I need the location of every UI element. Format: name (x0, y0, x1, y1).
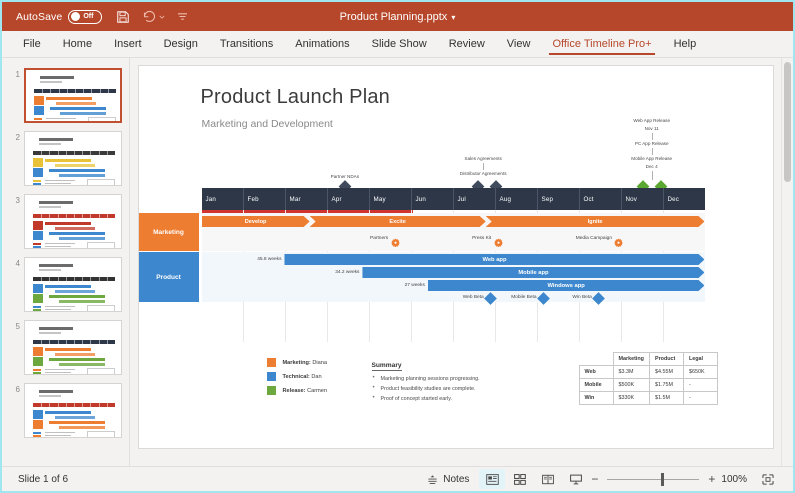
thumbnail-box[interactable]: ▬▬▬▬ (24, 68, 122, 123)
summary-block[interactable]: Summary Marketing planning sessions prog… (372, 354, 480, 406)
marketing-phase-ignite[interactable]: Ignite (486, 216, 705, 227)
task-bar-web-app[interactable]: Web app (284, 254, 704, 265)
autosave-toggle[interactable]: Off (68, 10, 102, 24)
thumbnail-item-1[interactable]: 1▬▬▬▬ (2, 64, 129, 127)
thumbnail-preview: ▬▬▬▬ (25, 195, 121, 248)
milestone-connector (483, 163, 484, 170)
powerpoint-window: AutoSave Off Product Planning.pptx▾ File… (0, 0, 795, 493)
ribbon-tab-review[interactable]: Review (438, 31, 496, 57)
slide-title[interactable]: Product Launch Plan (201, 86, 390, 109)
ribbon-tab-file[interactable]: File (12, 31, 52, 57)
table-cell: $500K (613, 379, 649, 392)
zoom-percent-label[interactable]: 100% (721, 474, 747, 485)
table-cell: $1.5M (649, 392, 683, 405)
thumbnail-box[interactable]: ▬▬▬▬ (24, 257, 122, 312)
legend-swatch (267, 386, 276, 395)
status-bar: Slide 1 of 6 Notes − + 100% (2, 466, 793, 491)
table-cell: $330K (613, 392, 649, 405)
toggle-knob (71, 12, 80, 21)
marketing-milestone-label-press-kit: Press Kit (472, 236, 491, 241)
zoom-out-button[interactable]: − (591, 472, 598, 486)
product-milestone-label-win-beta: Win Beta (572, 295, 591, 300)
slide-sorter-view-button[interactable] (507, 469, 533, 489)
thumbnail-preview: ▬▬▬▬ (25, 132, 121, 185)
ribbon-tab-office-timeline-pro[interactable]: Office Timeline Pro+ (541, 31, 662, 57)
marketing-milestone-marker-partners[interactable] (391, 234, 400, 243)
legend-text: Marketing: Diana (283, 360, 327, 366)
table-header-row: MarketingProductLegal (579, 353, 717, 366)
marketing-milestone-marker-press-kit[interactable] (494, 234, 503, 243)
normal-view-icon (486, 474, 499, 485)
title-bar: AutoSave Off Product Planning.pptx▾ (2, 2, 793, 31)
thumbnail-preview: ▬▬▬▬ (25, 258, 121, 311)
product-milestone-label-web-beta: Web Beta (463, 295, 484, 300)
ribbon-tab-transitions[interactable]: Transitions (209, 31, 284, 57)
marketing-milestone-marker-media-campaign[interactable] (614, 234, 623, 243)
thumbnail-item-6[interactable]: 6▬▬▬▬ (2, 379, 129, 442)
legend-row-technical: Technical: Dan (267, 372, 327, 381)
slide-canvas[interactable]: Product Launch Plan Marketing and Develo… (139, 66, 773, 448)
task-duration-windows-app: 27 weeks (405, 283, 425, 288)
save-icon[interactable] (116, 10, 130, 24)
legend-row-marketing: Marketing: Diana (267, 358, 327, 367)
autosave-control[interactable]: AutoSave Off (16, 10, 102, 24)
task-bar-mobile-app[interactable]: Mobile app (362, 267, 704, 278)
timeline-axis[interactable]: JanFebMarAprMayJunJulAugSepOctNovDec (202, 188, 705, 210)
table-column-header-legal: Legal (683, 353, 717, 366)
ribbon-tab-insert[interactable]: Insert (103, 31, 153, 57)
zoom-slider-handle[interactable] (661, 473, 664, 486)
thumbnail-preview: ▬▬▬▬ (26, 70, 120, 121)
axis-month-jun: Jun (412, 188, 454, 210)
axis-month-dec: Dec (664, 188, 705, 210)
table-cell: $3.3M (613, 366, 649, 379)
thumbnail-number: 2 (6, 131, 20, 142)
budget-table[interactable]: MarketingProductLegalWeb$3.3M$4.55M$650K… (579, 352, 718, 405)
legend-owner: Diana (312, 360, 327, 366)
legend-swatch (267, 358, 276, 367)
legend-text: Technical: Dan (283, 374, 322, 380)
reading-view-button[interactable] (535, 469, 561, 489)
thumbnail-item-5[interactable]: 5▬▬▬▬ (2, 316, 129, 379)
thumbnail-item-4[interactable]: 4▬▬▬▬ (2, 253, 129, 316)
table-row-header: Win (579, 392, 613, 405)
table-row: Mobile$500K$1.75M- (579, 379, 717, 392)
legend-role: Release: (283, 388, 306, 394)
task-duration-web-app: 45.8 weeks (257, 257, 281, 262)
marketing-milestone-label-media-campaign: Media Campaign (576, 236, 612, 241)
task-bar-windows-app[interactable]: Windows app (428, 280, 705, 291)
document-title: Product Planning.pptx (340, 11, 448, 23)
thumbnail-box[interactable]: ▬▬▬▬ (24, 320, 122, 375)
slide-counter: Slide 1 of 6 (2, 474, 68, 485)
product-milestone-label-mobile-beta: Mobile Beta (511, 295, 536, 300)
summary-heading: Summary (372, 362, 402, 371)
table-row-header: Web (579, 366, 613, 379)
ribbon-tab-animations[interactable]: Animations (284, 31, 360, 57)
table-cell: $650K (683, 366, 717, 379)
ribbon-tab-slide-show[interactable]: Slide Show (361, 31, 438, 57)
scrollbar-thumb[interactable] (784, 62, 791, 182)
thumbnail-number: 6 (6, 383, 20, 394)
legend-role: Technical: (283, 374, 310, 380)
table-row: Win$330K$1.5M- (579, 392, 717, 405)
thumbnail-preview: ▬▬▬▬ (25, 321, 121, 374)
slide-thumbnail-panel[interactable]: 1▬▬▬▬2▬▬▬▬3▬▬▬▬4▬▬▬▬5▬▬▬▬6▬▬▬▬ (2, 58, 130, 466)
milestone-label-sales-agreements: Sales Agreements (465, 156, 502, 161)
slide-show-view-button[interactable] (563, 469, 589, 489)
normal-view-button[interactable] (479, 469, 505, 489)
thumbnail-item-3[interactable]: 3▬▬▬▬ (2, 190, 129, 253)
ribbon-tab-help[interactable]: Help (663, 31, 708, 57)
ribbon-tab-design[interactable]: Design (153, 31, 209, 57)
autosave-label: AutoSave (16, 11, 62, 23)
slide-show-icon (570, 474, 582, 485)
autosave-state-label: Off (83, 13, 93, 20)
thumbnail-box[interactable]: ▬▬▬▬ (24, 194, 122, 249)
thumbnail-number: 1 (6, 68, 20, 79)
summary-item: Proof of concept started early. (372, 396, 480, 402)
axis-month-feb: Feb (244, 188, 286, 210)
ribbon-tab-view[interactable]: View (496, 31, 542, 57)
vertical-scrollbar[interactable] (781, 58, 793, 466)
axis-month-sep: Sep (538, 188, 580, 210)
table-column-header-marketing: Marketing (613, 353, 649, 366)
table-cell: $1.75M (649, 379, 683, 392)
undo-icon[interactable] (142, 10, 165, 23)
notes-button[interactable]: Notes (427, 474, 469, 485)
table-row: Web$3.3M$4.55M$650K (579, 366, 717, 379)
axis-month-mar: Mar (286, 188, 328, 210)
thumbnail-number: 4 (6, 257, 20, 268)
reading-view-icon (542, 474, 554, 485)
thumbnail-box[interactable]: ▬▬▬▬ (24, 131, 122, 186)
lane-label-marketing[interactable]: Marketing (139, 213, 199, 251)
title-dropdown-icon[interactable]: ▾ (451, 13, 455, 22)
legend-owner: Carmen (307, 388, 327, 394)
zoom-slider[interactable] (607, 479, 699, 480)
table-column-header-product: Product (649, 353, 683, 366)
slide-sorter-icon (514, 474, 526, 485)
thumbnail-number: 5 (6, 320, 20, 331)
table-cell: - (683, 392, 717, 405)
milestone-connector (652, 171, 653, 180)
summary-item: Marketing planning sessions progressing. (372, 376, 480, 382)
table-cell: $4.55M (649, 366, 683, 379)
milestone-date-web-app-release: Nov 11 (645, 126, 659, 131)
milestone-label-web-app-release: Web App Release (633, 118, 670, 123)
status-bar-right: Notes − + 100% (427, 469, 793, 489)
axis-month-may: May (370, 188, 412, 210)
thumbnail-preview: ▬▬▬▬ (25, 384, 121, 437)
fit-slide-to-window-button[interactable] (755, 469, 781, 489)
axis-month-apr: Apr (328, 188, 370, 210)
milestone-date-mobile-app-release: Dec 4 (646, 164, 658, 169)
table-row-header: Mobile (579, 379, 613, 392)
marketing-phase-develop[interactable]: Develop (202, 216, 310, 227)
marketing-milestone-label-partners: Partners (370, 236, 388, 241)
task-duration-mobile-app: 34.2 weeks (335, 270, 359, 275)
notes-label: Notes (443, 474, 469, 485)
axis-month-oct: Oct (580, 188, 622, 210)
lane-label-product[interactable]: Product (139, 252, 199, 302)
marketing-phase-excite[interactable]: Excite (310, 216, 486, 227)
thumbnail-number: 3 (6, 194, 20, 205)
workspace: 1▬▬▬▬2▬▬▬▬3▬▬▬▬4▬▬▬▬5▬▬▬▬6▬▬▬▬ Product L… (2, 58, 793, 466)
axis-month-jul: Jul (454, 188, 496, 210)
milestone-connector (652, 133, 653, 140)
ribbon-tab-home[interactable]: Home (52, 31, 103, 57)
thumbnail-item-2[interactable]: 2▬▬▬▬ (2, 127, 129, 190)
milestone-label-distributor-agreements: Distributor Agreements (460, 171, 507, 176)
slide-subtitle[interactable]: Marketing and Development (202, 118, 333, 130)
thumbnail-box[interactable]: ▬▬▬▬ (24, 383, 122, 438)
notes-icon (427, 474, 438, 485)
milestone-label-pc-app-release: PC App Release (635, 141, 669, 146)
axis-month-aug: Aug (496, 188, 538, 210)
milestone-label-mobile-app-release: Mobile App Release (631, 156, 672, 161)
customize-quick-access-icon[interactable] (177, 12, 188, 21)
ribbon-tab-bar: FileHomeInsertDesignTransitionsAnimation… (2, 31, 793, 58)
milestone-connector (652, 148, 653, 155)
milestone-label-partner-ndas: Partner NDAs (331, 174, 359, 179)
slide-canvas-area: Product Launch Plan Marketing and Develo… (130, 58, 781, 466)
legend[interactable]: Marketing: DianaTechnical: DanRelease: C… (267, 358, 327, 400)
table-cell: - (683, 379, 717, 392)
legend-swatch (267, 372, 276, 381)
legend-row-release: Release: Carmen (267, 386, 327, 395)
legend-owner: Dan (311, 374, 321, 380)
table-column-header-corner (579, 353, 613, 366)
axis-month-jan: Jan (202, 188, 244, 210)
legend-role: Marketing: (283, 360, 311, 366)
legend-text: Release: Carmen (283, 388, 327, 394)
fit-to-window-icon (762, 474, 774, 485)
zoom-in-button[interactable]: + (708, 472, 715, 486)
axis-month-nov: Nov (622, 188, 664, 210)
summary-list: Marketing planning sessions progressing.… (372, 376, 480, 402)
summary-item: Product feasibility studies are complete… (372, 386, 480, 392)
